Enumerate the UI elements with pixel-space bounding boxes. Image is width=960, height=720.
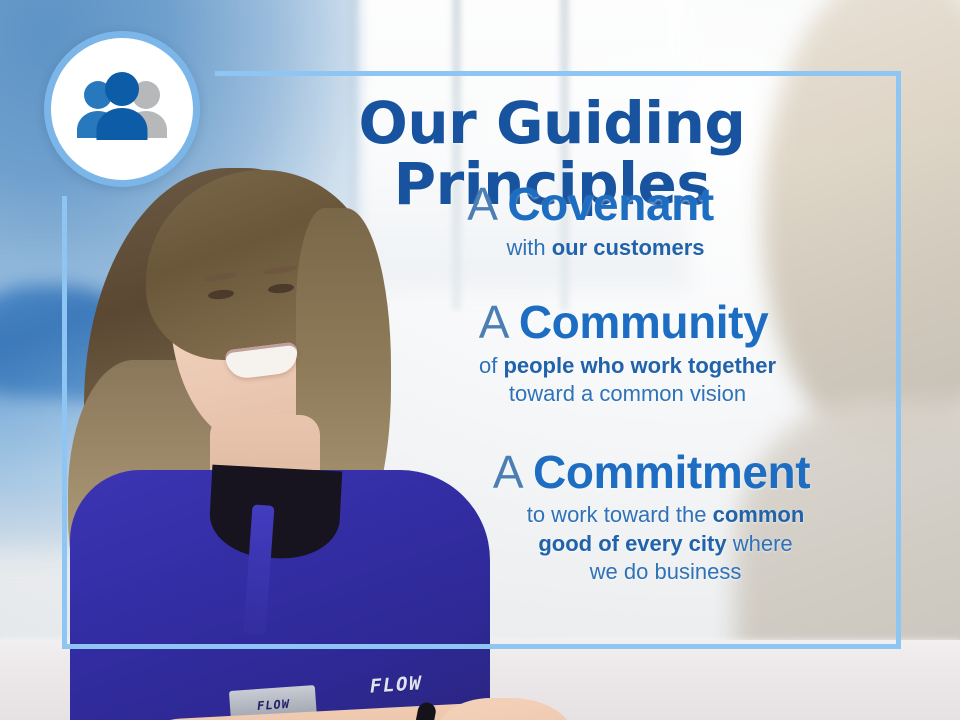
principle-word: Community: [519, 296, 768, 348]
principle-covenant: A Covenant with our customers: [296, 180, 885, 262]
text-run-bold: common: [713, 502, 805, 527]
shirt-logo: FLOW: [368, 672, 424, 698]
text-run: toward a common vision: [509, 381, 746, 406]
principle-heading: A Community: [362, 298, 885, 348]
guiding-principles-graphic: FLOW FLOW Our Guiding Princip: [0, 0, 960, 720]
text-run-bold: our customers: [552, 235, 705, 260]
people-group-icon: [70, 72, 174, 146]
principle-subtext-line: to work toward the common: [446, 501, 885, 529]
text-run: of: [479, 353, 503, 378]
text-run: where: [727, 531, 793, 556]
principle-heading: A Covenant: [296, 180, 885, 230]
people-group-badge: [44, 31, 200, 187]
principle-subtext-line: of people who work together: [370, 352, 885, 380]
text-run-bold: good of every city: [538, 531, 726, 556]
principle-word: Commitment: [533, 446, 810, 498]
text-run: we do business: [590, 559, 742, 584]
principle-subtext: of people who work together toward a com…: [362, 352, 885, 408]
principle-commitment: A Commitment to work toward the common g…: [418, 448, 885, 586]
principle-lead: A: [493, 446, 533, 498]
principle-lead: A: [467, 178, 507, 230]
principle-subtext-line: toward a common vision: [370, 380, 885, 408]
text-run-bold: people who work together: [503, 353, 776, 378]
principle-subtext-line: we do business: [446, 558, 885, 586]
text-run: to work toward the: [527, 502, 713, 527]
principle-subtext: with our customers: [296, 234, 885, 262]
text-run: with: [506, 235, 551, 260]
principle-word: Covenant: [507, 178, 713, 230]
principle-subtext-line: good of every city where: [446, 530, 885, 558]
principle-heading: A Commitment: [418, 448, 885, 498]
principle-lead: A: [479, 296, 519, 348]
principles-list: A Covenant with our customers A Communit…: [300, 180, 885, 604]
principle-subtext-line: with our customers: [326, 234, 885, 262]
principle-subtext: to work toward the common good of every …: [418, 501, 885, 585]
name-badge-label: FLOW: [256, 697, 290, 713]
principle-community: A Community of people who work together …: [362, 298, 885, 408]
